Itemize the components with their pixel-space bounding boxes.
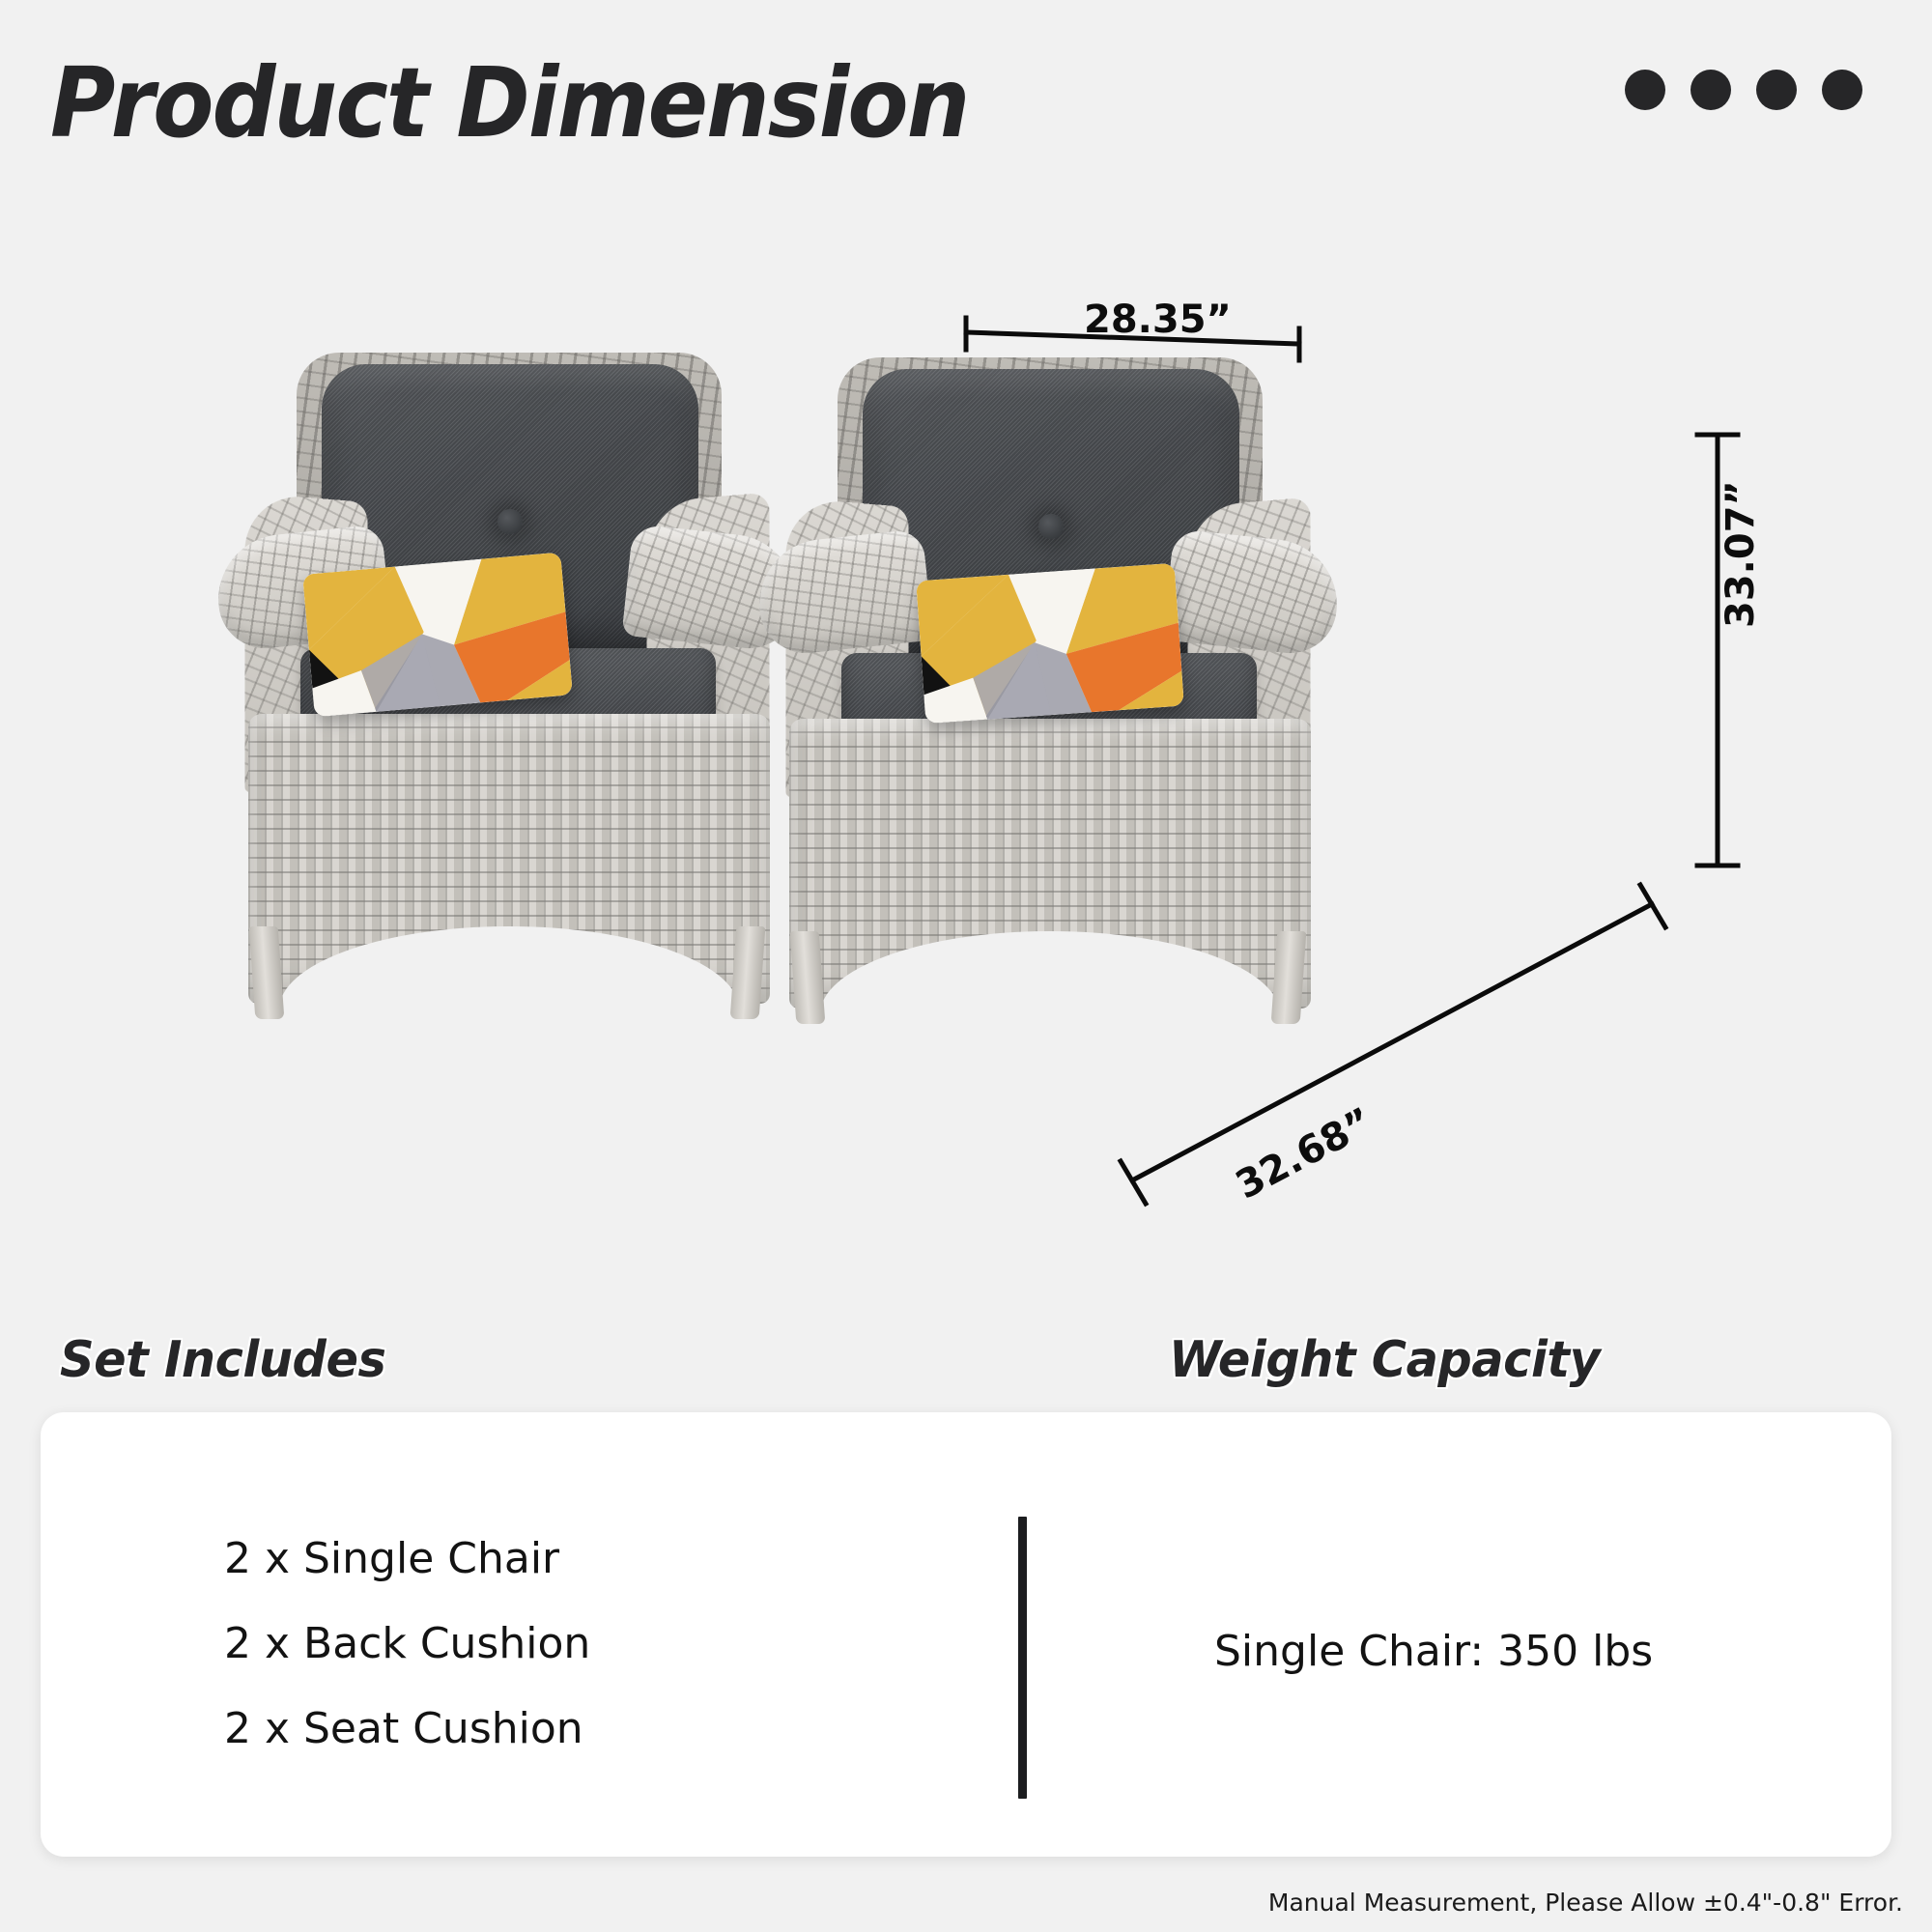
- page-title: Product Dimension: [50, 46, 968, 159]
- weight-capacity-value: Single Chair: 350 lbs: [1214, 1627, 1653, 1676]
- dot-icon: [1756, 70, 1797, 110]
- pillow-pattern: [916, 563, 1184, 724]
- depth-dimension-label: 32.68”: [1229, 1099, 1380, 1207]
- chair-base-weave: [248, 714, 770, 1004]
- width-dimension-label: 28.35”: [1084, 298, 1232, 342]
- weight-capacity-heading: Weight Capacity: [1169, 1331, 1600, 1389]
- info-card: 2 x Single Chair 2 x Back Cushion 2 x Se…: [41, 1412, 1891, 1857]
- chair-leg-right: [1271, 931, 1307, 1024]
- chair-armrest-left: [753, 528, 933, 658]
- cushion-tuft-button: [497, 509, 523, 534]
- product-image-stage: 28.35” 33.07” 32.68”: [0, 203, 1932, 1294]
- card-divider: [1018, 1517, 1027, 1799]
- decorative-dots: [1625, 70, 1862, 110]
- set-includes-list: 2 x Single Chair 2 x Back Cushion 2 x Se…: [224, 1538, 590, 1793]
- list-item: 2 x Seat Cushion: [224, 1708, 590, 1750]
- product-image-chair-left: [208, 343, 807, 1019]
- list-item: 2 x Back Cushion: [224, 1623, 590, 1665]
- measurement-disclaimer: Manual Measurement, Please Allow ±0.4"-0…: [1268, 1889, 1903, 1917]
- dot-icon: [1625, 70, 1665, 110]
- infographic-page: Product Dimension: [0, 0, 1932, 1932]
- dot-icon: [1822, 70, 1862, 110]
- list-item: 2 x Single Chair: [224, 1538, 590, 1580]
- chair-base-weave: [789, 719, 1311, 1009]
- height-dimension-label: 33.07”: [1719, 480, 1763, 628]
- pillow-pattern: [302, 553, 573, 718]
- cushion-tuft-button: [1038, 514, 1064, 539]
- product-image-chair-right: [749, 348, 1348, 1024]
- accent-pillow: [916, 563, 1184, 724]
- dot-icon: [1690, 70, 1731, 110]
- chair-armrest-right: [1162, 528, 1343, 658]
- set-includes-heading: Set Includes: [60, 1331, 385, 1389]
- accent-pillow: [302, 553, 573, 718]
